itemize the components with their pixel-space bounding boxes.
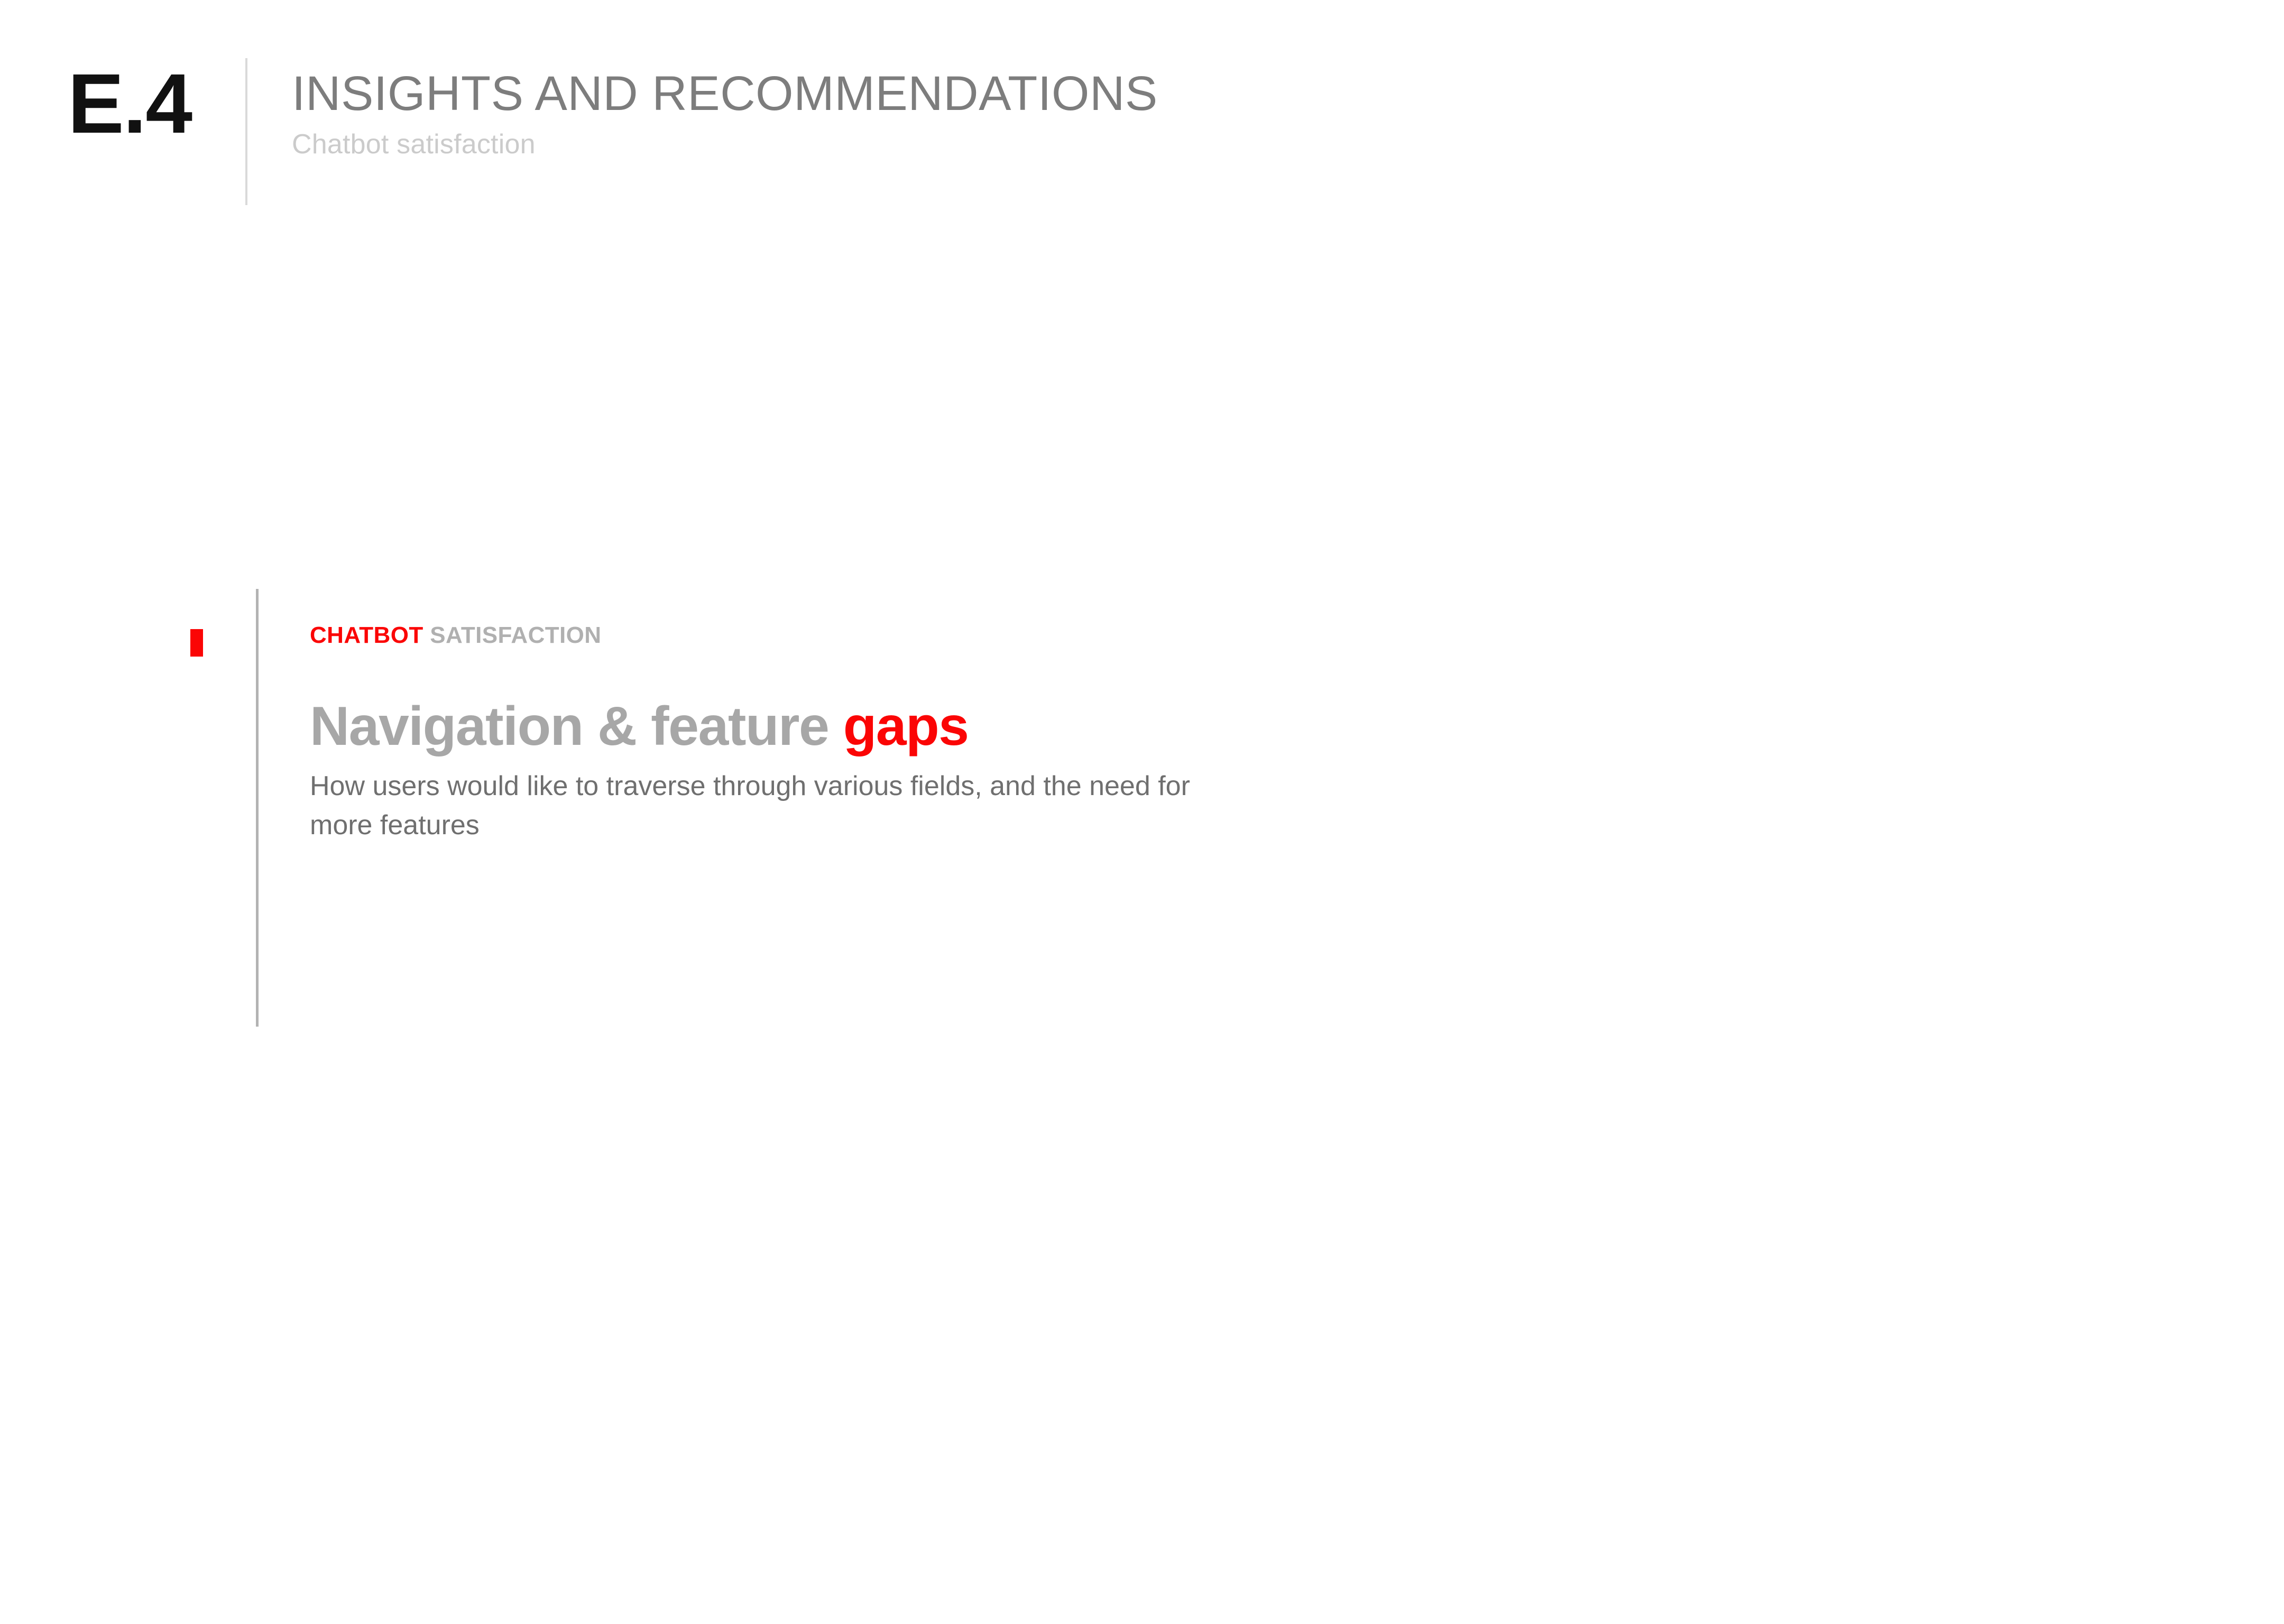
section-number: E.4 [68,61,191,146]
header-text-group: INSIGHTS AND RECOMMENDATIONS Chatbot sat… [292,68,1158,160]
description-text: How users would like to traverse through… [310,767,1219,845]
headline-muted-text: Navigation & feature [310,696,843,757]
eyebrow-muted-text: SATISFACTION [423,622,602,648]
content-text-group: CHATBOT SATISFACTION Navigation & featur… [310,624,1579,845]
header-divider-line [245,58,247,205]
eyebrow-label: CHATBOT SATISFACTION [310,624,1579,647]
content-divider-line [256,589,259,1027]
page-title: INSIGHTS AND RECOMMENDATIONS [292,68,1158,120]
headline-accent-text: gaps [843,696,969,757]
slide-header: E.4 INSIGHTS AND RECOMMENDATIONS Chatbot… [0,0,2284,222]
page-subtitle: Chatbot satisfaction [292,130,1158,160]
accent-marker-icon [190,629,203,657]
headline: Navigation & feature gaps [310,698,1579,755]
eyebrow-accent-text: CHATBOT [310,622,423,648]
slide-canvas: E.4 INSIGHTS AND RECOMMENDATIONS Chatbot… [0,0,2284,1624]
